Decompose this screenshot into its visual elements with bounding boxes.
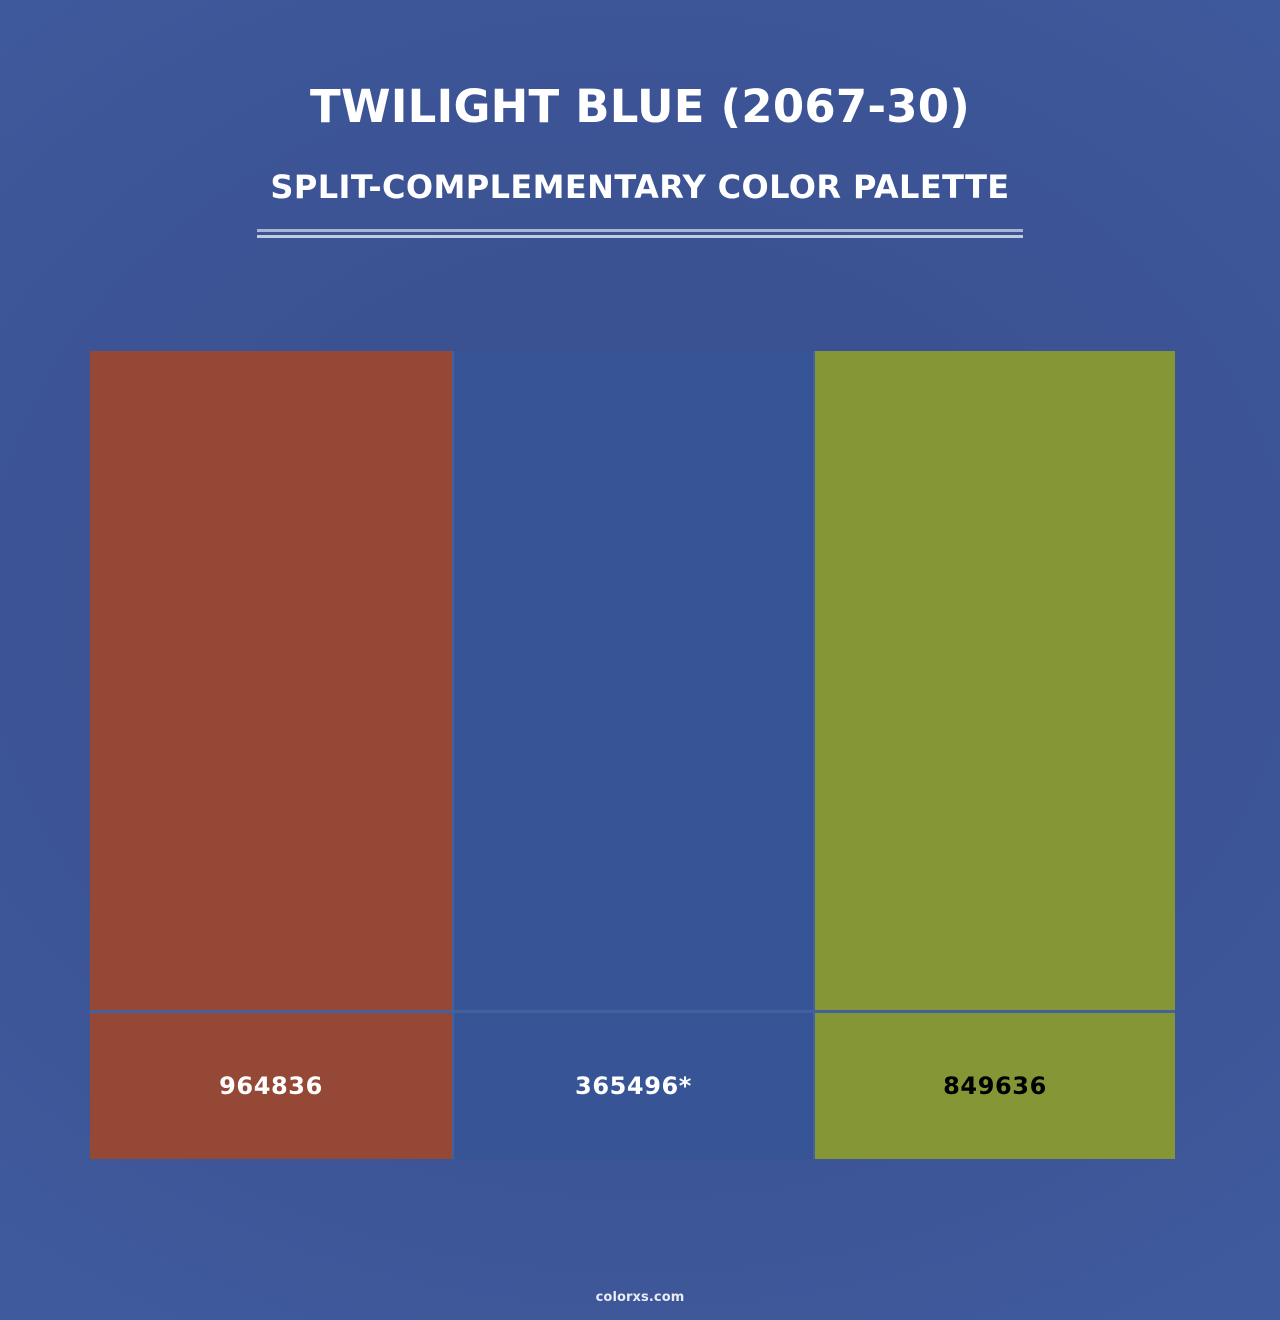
palette-column-3[interactable]: 849636	[813, 351, 1175, 1159]
palette-column-2[interactable]: 365496*	[452, 351, 813, 1159]
color-palette-page: TWILIGHT BLUE (2067-30) SPLIT-COMPLEMENT…	[0, 0, 1280, 1320]
hex-label-964836: 964836	[219, 1072, 323, 1100]
color-swatch-964836[interactable]	[90, 351, 452, 1010]
color-label-band-849636: 849636	[815, 1010, 1175, 1159]
palette-swatch-group: 964836 365496* 849636	[90, 351, 1175, 1159]
palette-column-1[interactable]: 964836	[90, 351, 452, 1159]
hex-label-849636: 849636	[943, 1072, 1047, 1100]
hex-label-365496: 365496*	[575, 1072, 692, 1100]
color-swatch-849636[interactable]	[815, 351, 1175, 1010]
color-swatch-365496[interactable]	[454, 351, 813, 1010]
divider-line-top	[257, 229, 1023, 232]
page-subtitle: SPLIT-COMPLEMENTARY COLOR PALETTE	[0, 165, 1280, 209]
divider-line-bottom	[257, 235, 1023, 238]
color-label-band-365496: 365496*	[454, 1010, 813, 1159]
site-credit: colorxs.com	[596, 1290, 685, 1305]
page-title: TWILIGHT BLUE (2067-30)	[0, 76, 1280, 138]
color-label-band-964836: 964836	[90, 1010, 452, 1159]
page-footer: colorxs.com	[0, 1286, 1280, 1305]
header-divider	[257, 229, 1023, 238]
